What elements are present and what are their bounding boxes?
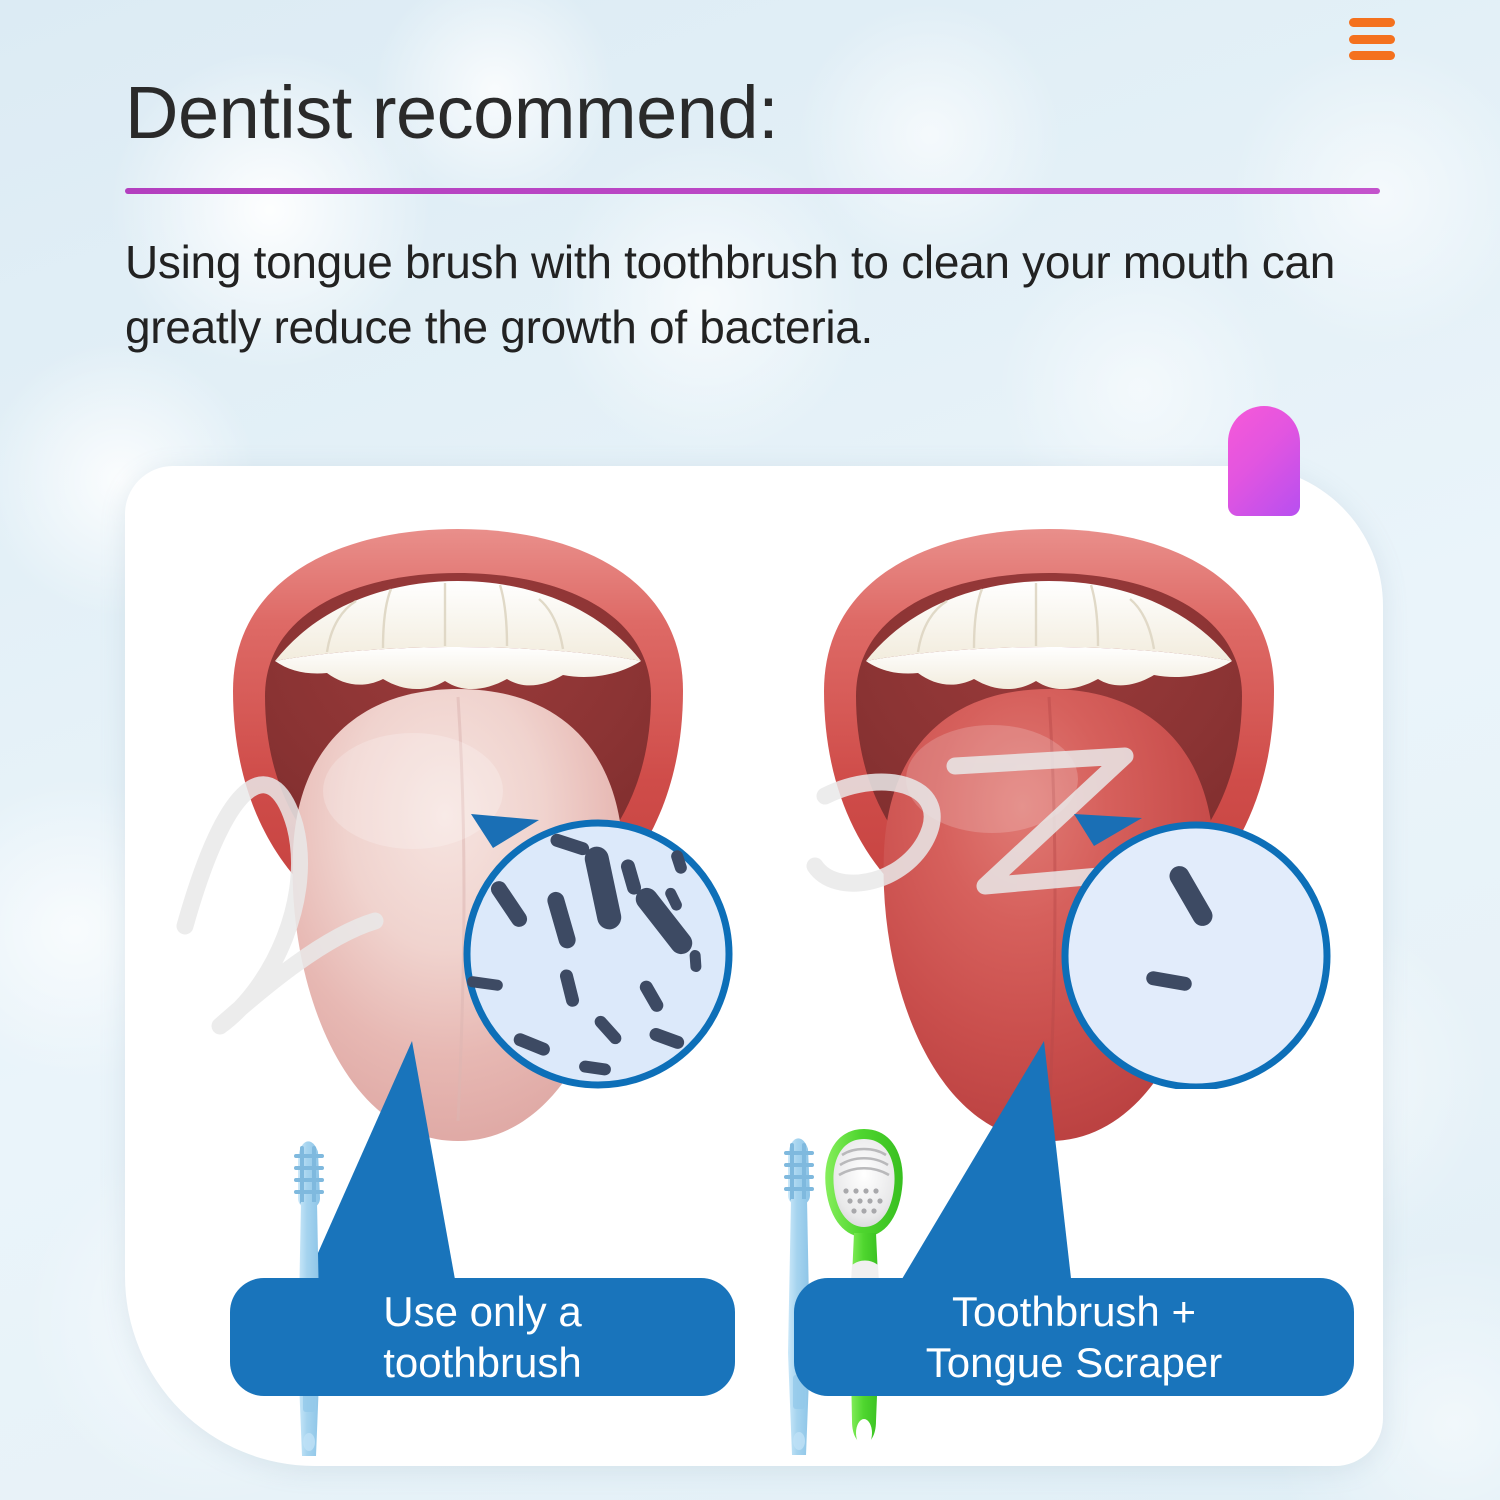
panel-only-toothbrush: Use only a toothbrush [125,466,754,1466]
hamburger-bar-2 [1349,35,1395,44]
hamburger-menu-icon[interactable] [1349,18,1395,60]
magnifier-lens-many-bacteria [453,814,743,1089]
label-tag-right-line1: Toothbrush + [926,1286,1223,1337]
panel-toothbrush-plus-scraper: Toothbrush + Tongue Scraper [754,466,1383,1466]
magnifier-lens-few-bacteria [1046,814,1336,1089]
pink-pill-accent [1228,406,1300,516]
label-tag-left[interactable]: Use only a toothbrush [230,1278,735,1396]
page-title: Dentist recommend: [125,76,1380,150]
label-tag-right-line2: Tongue Scraper [926,1337,1223,1388]
hamburger-bar-3 [1349,51,1395,60]
label-tag-left-line1: Use only a [383,1286,581,1337]
comparison-card: Use only a toothbrush [125,466,1383,1466]
label-tag-right[interactable]: Toothbrush + Tongue Scraper [794,1278,1354,1396]
title-divider [125,188,1380,194]
header: Dentist recommend: Using tongue brush wi… [125,76,1380,361]
hamburger-bar-1 [1349,18,1395,27]
page-subtitle: Using tongue brush with toothbrush to cl… [125,230,1355,361]
label-tag-left-line2: toothbrush [383,1337,581,1388]
